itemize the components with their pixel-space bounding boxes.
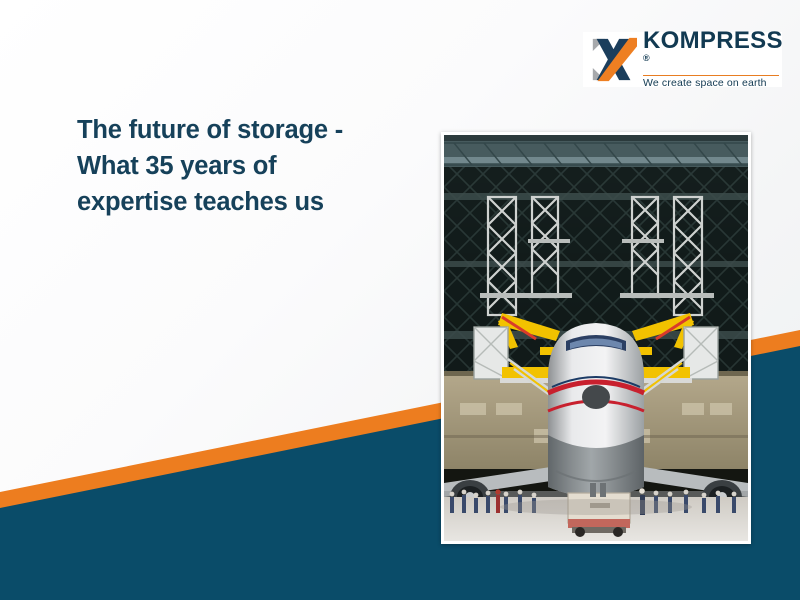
logo-divider — [643, 75, 779, 77]
brand-logo: KOMPRESS® We create space on earth — [583, 32, 782, 87]
logo-tagline: We create space on earth — [643, 78, 783, 90]
hangar-aircraft-photo — [444, 135, 748, 541]
presentation-slide: The future of storage - What 35 years of… — [0, 0, 800, 600]
hangar-aircraft-illustration — [444, 135, 748, 541]
logo-text-block: KOMPRESS® We create space on earth — [643, 29, 783, 89]
logo-wordmark: KOMPRESS — [643, 29, 783, 53]
hero-image-frame — [441, 132, 751, 544]
logo-wordmark-row: KOMPRESS® — [643, 29, 783, 72]
kompress-k-icon — [590, 36, 637, 83]
registered-trademark-icon: ® — [643, 53, 650, 63]
page-title: The future of storage - What 35 years of… — [77, 112, 417, 221]
